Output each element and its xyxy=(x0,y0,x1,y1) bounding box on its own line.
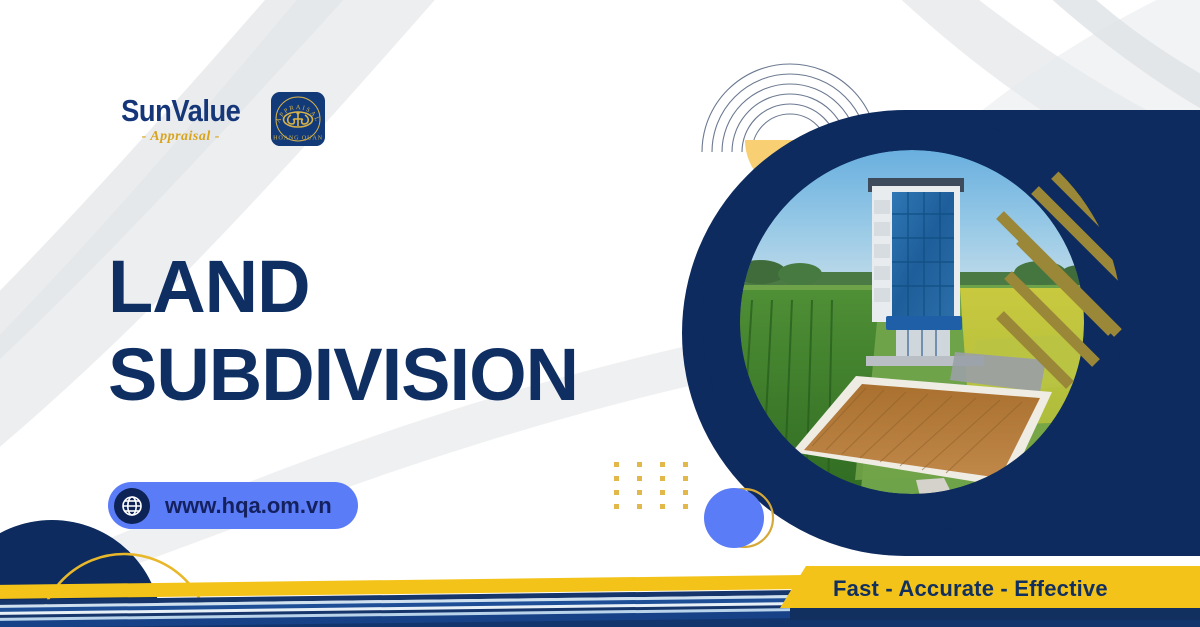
hoang-quan-logo[interactable]: APPRAISAL HOANG QUAN xyxy=(271,92,325,146)
svg-text:HOANG QUAN: HOANG QUAN xyxy=(273,135,323,142)
logo-row: SunValue - Appraisal - APPRAISAL xyxy=(113,92,325,146)
sunvalue-logo[interactable]: SunValue - Appraisal - xyxy=(113,95,249,144)
globe-icon xyxy=(114,488,150,524)
tagline-text: Fast - Accurate - Effective xyxy=(833,576,1108,602)
website-url-button[interactable]: www.hqa.om.vn xyxy=(108,482,358,529)
page-title: LAND SUBDIVISION xyxy=(108,243,578,419)
sunvalue-tagline: - Appraisal - xyxy=(142,130,220,144)
promo-banner: SunValue - Appraisal - APPRAISAL xyxy=(0,0,1200,627)
headline-line-1: LAND xyxy=(108,243,578,331)
website-url-text: www.hqa.om.vn xyxy=(165,493,332,519)
ribbon-underline xyxy=(790,608,1200,620)
hoang-quan-emblem-icon: APPRAISAL HOANG QUAN xyxy=(271,92,325,146)
headline-line-2: SUBDIVISION xyxy=(108,331,578,419)
sunvalue-wordmark: SunValue xyxy=(121,95,240,126)
